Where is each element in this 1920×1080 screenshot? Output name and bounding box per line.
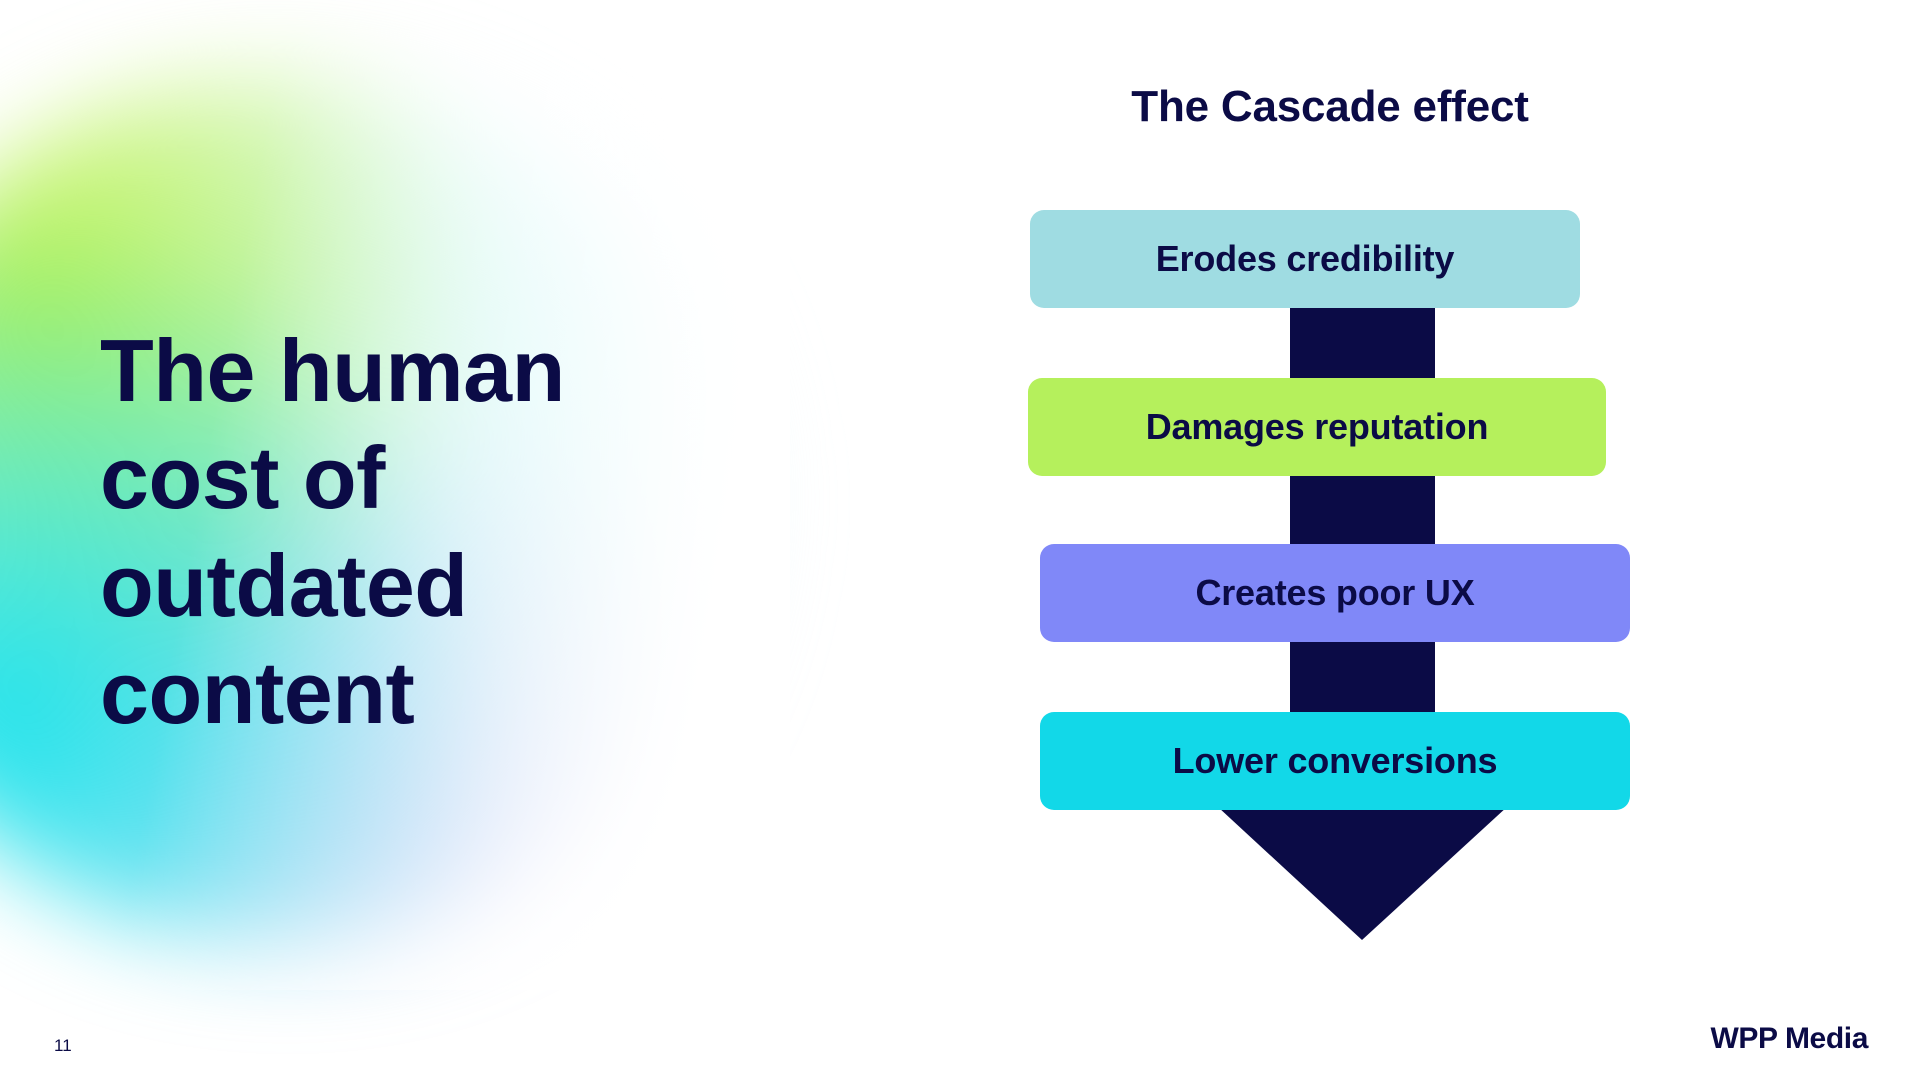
cascade-step-list: Erodes credibility Damages reputation Cr… bbox=[1020, 60, 1800, 960]
cascade-step-1-label: Erodes credibility bbox=[1156, 238, 1455, 280]
logo-media: Media bbox=[1777, 1022, 1868, 1055]
cascade-effect-panel: The Cascade effect Erodes credibility Da… bbox=[1020, 60, 1800, 960]
wpp-media-logo: WPP Media bbox=[1710, 1022, 1868, 1056]
cascade-step-1[interactable]: Erodes credibility bbox=[1030, 210, 1580, 308]
page-number: 11 bbox=[54, 1036, 72, 1056]
cascade-step-3[interactable]: Creates poor UX bbox=[1040, 544, 1630, 642]
cascade-step-2[interactable]: Damages reputation bbox=[1028, 378, 1606, 476]
cascade-step-2-label: Damages reputation bbox=[1146, 406, 1488, 448]
cascade-step-4-label: Lower conversions bbox=[1173, 740, 1498, 782]
cascade-step-4[interactable]: Lower conversions bbox=[1040, 712, 1630, 810]
cascade-step-3-label: Creates poor UX bbox=[1195, 572, 1474, 614]
page-title: The human cost of outdated content bbox=[100, 317, 740, 746]
logo-wpp: WPP bbox=[1710, 1022, 1777, 1055]
